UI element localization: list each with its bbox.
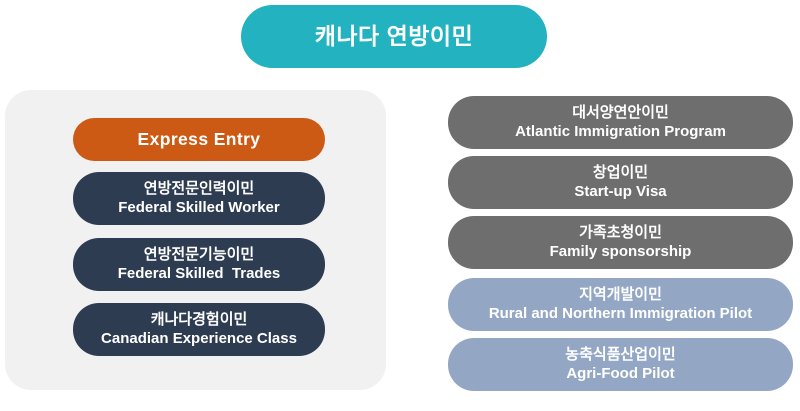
card-federal-skilled-trades-label-en: Federal Skilled Trades — [118, 265, 281, 284]
card-agri-food-pilot-label-ko: 농축식품산업이민 — [565, 346, 675, 365]
card-federal-skilled-worker-label-ko: 연방전문인력이민 — [144, 180, 254, 199]
card-start-up-visa-label-ko: 창업이민 — [593, 164, 648, 183]
card-canadian-experience-class-label-ko: 캐나다경험이민 — [151, 311, 248, 330]
card-atlantic-immigration-program-label-ko: 대서양연안이민 — [572, 104, 669, 123]
card-canadian-experience-class[interactable]: 캐나다경험이민 Canadian Experience Class — [73, 303, 325, 356]
card-canadian-experience-class-label-en: Canadian Experience Class — [101, 330, 297, 349]
page-title: 캐나다 연방이민 — [315, 25, 474, 48]
card-agri-food-pilot-label-en: Agri-Food Pilot — [566, 365, 674, 384]
card-start-up-visa[interactable]: 창업이민 Start-up Visa — [448, 156, 793, 209]
card-federal-skilled-trades-label-ko: 연방전문기능이민 — [144, 246, 254, 265]
card-express-entry[interactable]: Express Entry — [73, 118, 325, 161]
card-federal-skilled-worker[interactable]: 연방전문인력이민 Federal Skilled Worker — [73, 172, 325, 225]
card-rural-and-northern-immigration-pilot-label-en: Rural and Northern Immigration Pilot — [489, 305, 752, 324]
card-atlantic-immigration-program[interactable]: 대서양연안이민 Atlantic Immigration Program — [448, 96, 793, 149]
card-federal-skilled-worker-label-en: Federal Skilled Worker — [118, 199, 279, 218]
card-rural-and-northern-immigration-pilot[interactable]: 지역개발이민 Rural and Northern Immigration Pi… — [448, 278, 793, 331]
card-family-sponsorship-label-ko: 가족초청이민 — [579, 224, 662, 243]
card-atlantic-immigration-program-label-en: Atlantic Immigration Program — [515, 123, 726, 142]
card-family-sponsorship-label-en: Family sponsorship — [550, 243, 692, 262]
header-pill: 캐나다 연방이민 — [241, 5, 547, 68]
card-express-entry-label: Express Entry — [138, 129, 261, 151]
card-federal-skilled-trades[interactable]: 연방전문기능이민 Federal Skilled Trades — [73, 238, 325, 291]
card-rural-and-northern-immigration-pilot-label-ko: 지역개발이민 — [579, 286, 662, 305]
card-agri-food-pilot[interactable]: 농축식품산업이민 Agri-Food Pilot — [448, 338, 793, 391]
card-start-up-visa-label-en: Start-up Visa — [574, 183, 666, 202]
card-family-sponsorship[interactable]: 가족초청이민 Family sponsorship — [448, 216, 793, 269]
